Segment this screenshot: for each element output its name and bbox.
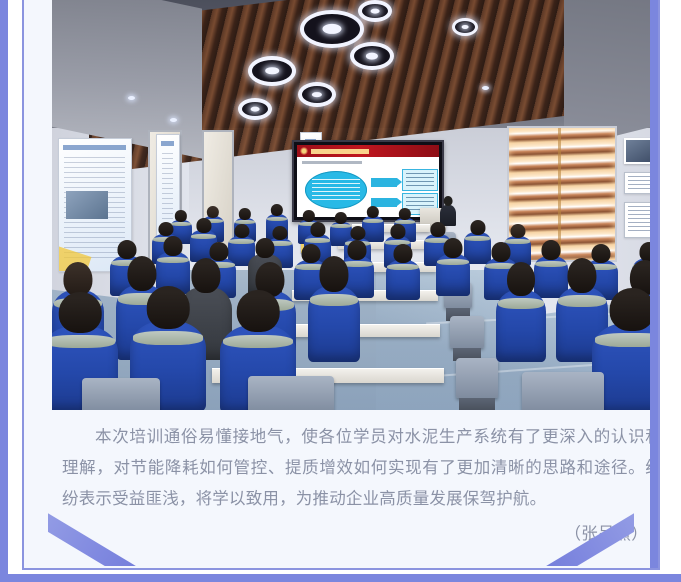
ring-light-icon [248, 56, 296, 86]
slide-title-text [311, 149, 369, 154]
trainee [496, 262, 546, 362]
ring-light-icon [300, 10, 364, 48]
slide-ellipse-node [305, 171, 367, 209]
article-page: 本次培训通俗易懂接地气，使各位学员对水泥生产系统有了更深入的认识和理解，对节能降… [0, 0, 681, 582]
downlight-icon [482, 86, 489, 90]
trainee [386, 244, 420, 300]
slide-info-box [402, 169, 438, 191]
trainee [308, 256, 360, 362]
slide-arrow-node [371, 178, 397, 187]
photo-scene [52, 0, 660, 410]
company-emblem-icon [300, 147, 308, 155]
chair [82, 378, 160, 410]
downlight-icon [128, 96, 135, 100]
trainee [436, 238, 470, 296]
downlight-icon [170, 118, 177, 122]
right-frame-bar [650, 0, 658, 570]
ring-light-icon [358, 0, 392, 22]
chair [248, 376, 334, 410]
content-panel: 本次培训通俗易懂接地气，使各位学员对水泥生产系统有了更深入的认识和理解，对节能降… [22, 0, 660, 570]
chair [450, 316, 484, 348]
caption-paragraph: 本次培训通俗易懂接地气，使各位学员对水泥生产系统有了更深入的认识和理解，对节能降… [62, 422, 660, 515]
ring-light-icon [350, 42, 394, 70]
ring-light-icon [298, 82, 336, 107]
chair [456, 358, 498, 398]
ceiling [52, 0, 660, 128]
ring-light-icon [238, 98, 272, 120]
wall-photo [624, 138, 652, 164]
training-photo [52, 0, 660, 410]
author-signature: （张呈熹） [62, 519, 660, 550]
ring-light-icon [452, 18, 478, 36]
caption-block: 本次培训通俗易懂接地气，使各位学员对水泥生产系统有了更深入的认识和理解，对节能降… [52, 414, 660, 550]
chair [522, 372, 604, 410]
slide-subtitle-text [302, 161, 362, 164]
